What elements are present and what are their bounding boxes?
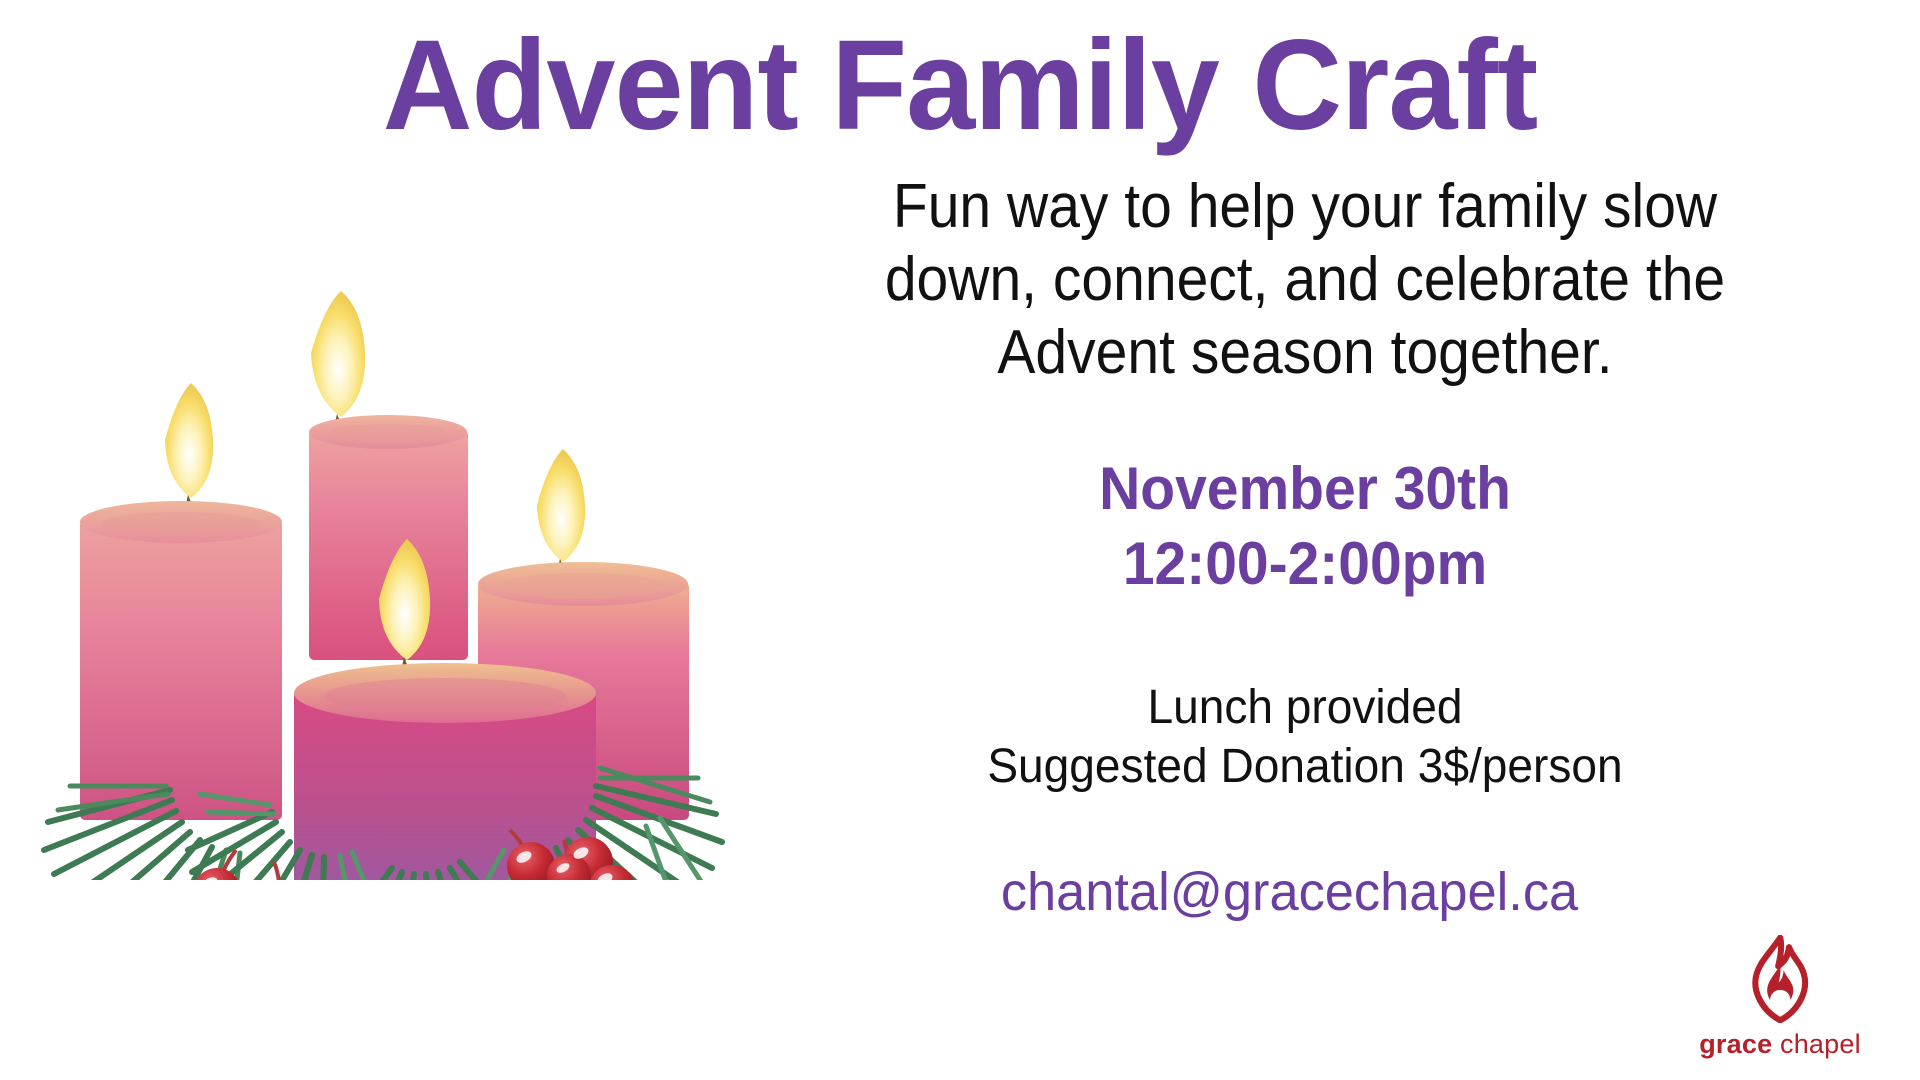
poster-canvas: Advent Family Craft — [0, 0, 1920, 1080]
grace-chapel-logo: grace chapel — [1680, 935, 1880, 1060]
content-column: Fun way to help your family slow down, c… — [760, 170, 1850, 923]
event-date: November 30th — [787, 451, 1823, 526]
description-text: Fun way to help your family slow down, c… — [804, 170, 1807, 389]
logo-word-chapel: chapel — [1772, 1029, 1860, 1059]
description-line-3: Advent season together. — [804, 316, 1807, 389]
page-title: Advent Family Craft — [29, 22, 1891, 150]
advent-candles-illustration — [40, 150, 730, 880]
logo-word-grace: grace — [1699, 1029, 1772, 1059]
event-details: Lunch provided Suggested Donation 3$/per… — [782, 679, 1828, 796]
description-line-1: Fun way to help your family slow — [804, 170, 1807, 243]
suggested-donation-text: Suggested Donation 3$/person — [782, 738, 1828, 797]
event-datetime: November 30th 12:00-2:00pm — [787, 451, 1823, 601]
flame-icon — [1743, 935, 1817, 1023]
lunch-provided-text: Lunch provided — [782, 679, 1828, 738]
contact-email[interactable]: chantal@gracechapel.ca — [761, 861, 1818, 923]
logo-wordmark: grace chapel — [1680, 1029, 1880, 1060]
description-line-2: down, connect, and celebrate the — [804, 243, 1807, 316]
event-time: 12:00-2:00pm — [787, 526, 1823, 601]
candle-left — [80, 383, 282, 820]
